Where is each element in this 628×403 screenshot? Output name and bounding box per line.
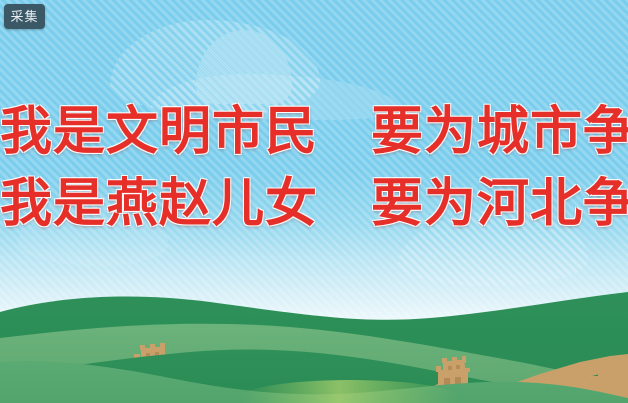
capture-button[interactable]: 采集 [4,4,45,29]
banner-canvas: 我是文明市民 要为城市争光 我是燕赵儿女 要为河北争气 采集 [0,0,628,403]
landscape-illustration [0,0,628,403]
